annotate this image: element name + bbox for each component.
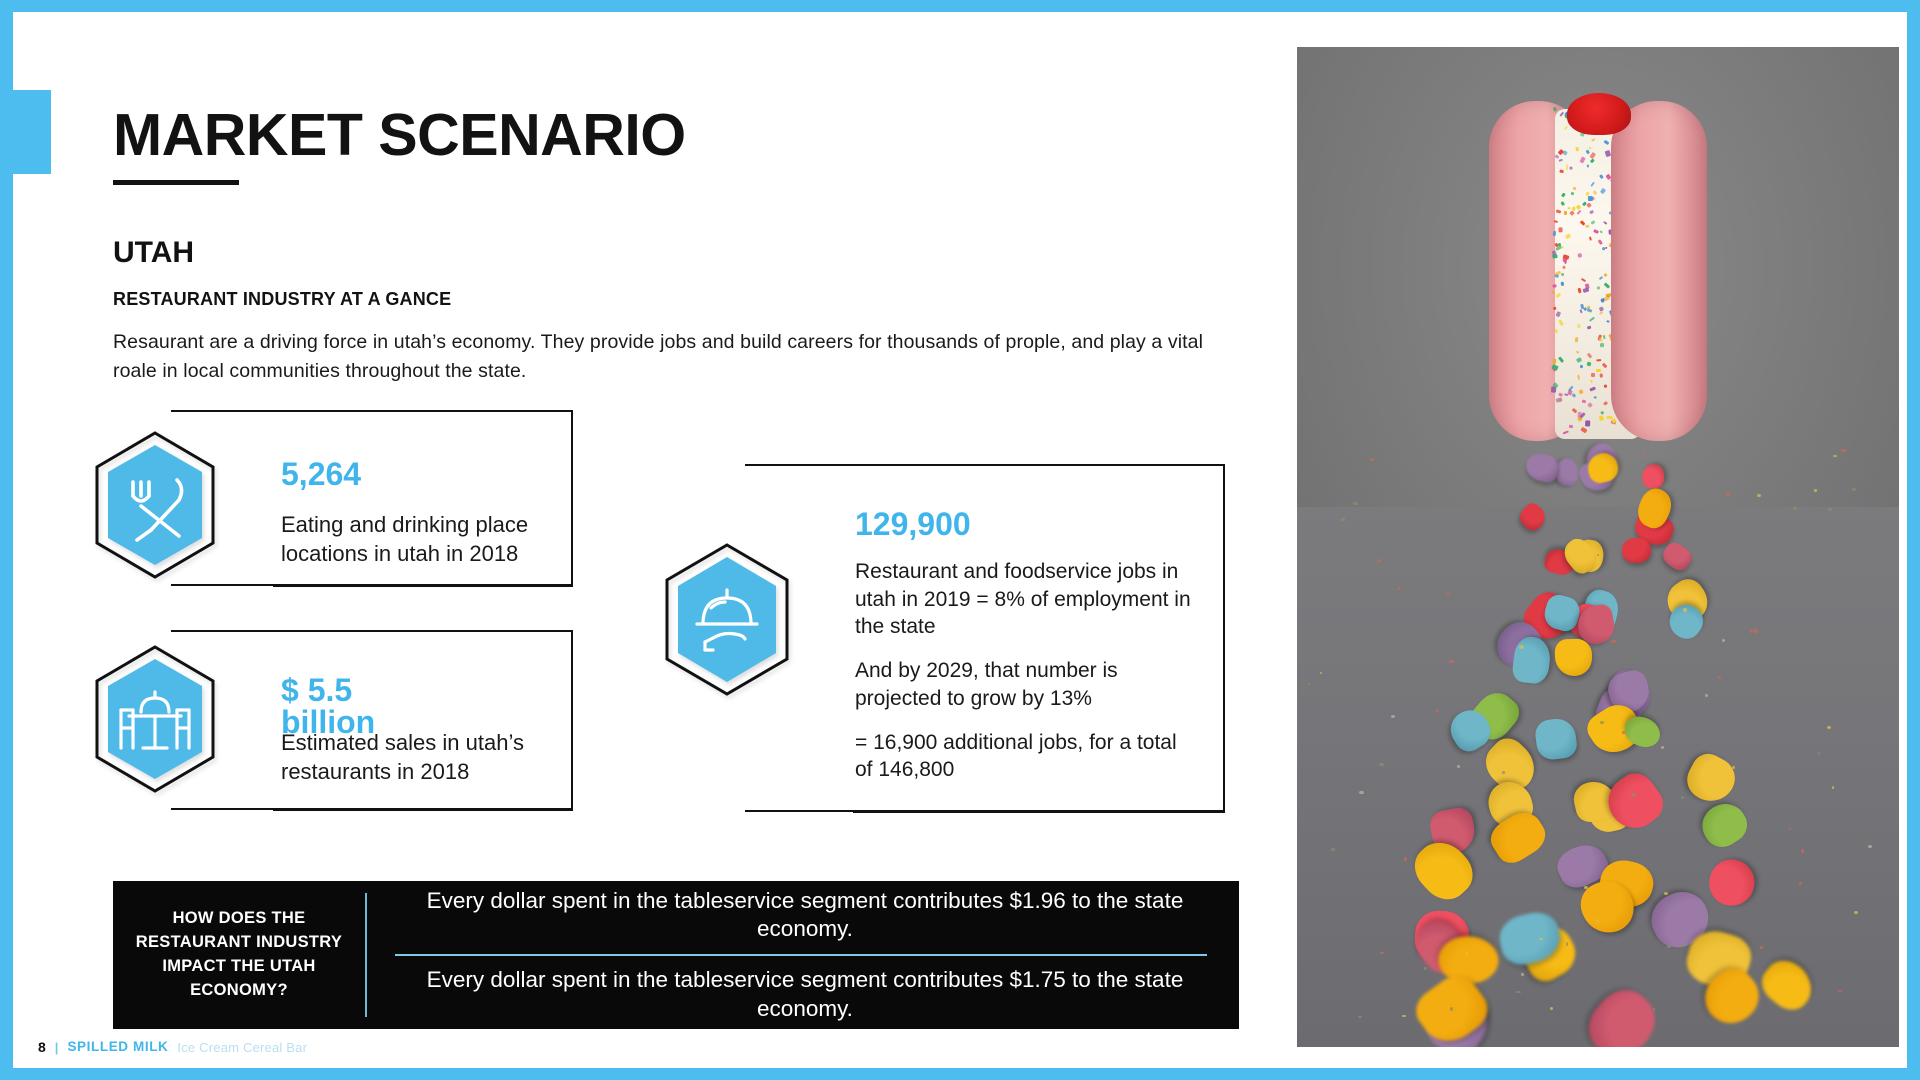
sprinkle — [1590, 152, 1597, 159]
sprinkle — [1591, 220, 1596, 225]
crumb — [1566, 942, 1568, 946]
sprinkle — [1555, 209, 1561, 214]
sprinkle — [1596, 286, 1600, 289]
state-heading: UTAH — [113, 238, 194, 268]
sprinkle — [1603, 273, 1607, 277]
crumb — [1832, 786, 1834, 788]
sprinkle — [1593, 229, 1598, 233]
macaron-shell-right — [1611, 101, 1707, 441]
card-bottom-rule — [273, 584, 573, 587]
crumb — [1760, 946, 1763, 950]
sprinkle — [1581, 399, 1586, 402]
cereal-piece — [1511, 636, 1553, 686]
crumb — [1664, 892, 1668, 895]
sprinkle — [1553, 107, 1556, 112]
crumb — [1801, 849, 1803, 853]
stat-line: = 16,900 additional jobs, for a total of… — [855, 729, 1195, 784]
cereal-piece — [1706, 857, 1757, 909]
sprinkle — [1555, 311, 1561, 317]
sprinkle — [1581, 277, 1586, 281]
crumb — [1597, 554, 1599, 556]
sprinkle — [1571, 408, 1577, 413]
cereal-piece — [1555, 458, 1578, 486]
sprinkle — [1552, 231, 1556, 236]
impact-callout: HOW DOES THE RESTAURANT INDUSTRY IMPACT … — [113, 881, 1239, 1029]
sprinkle — [1599, 175, 1604, 180]
sprinkle — [1564, 394, 1568, 397]
crumb — [1436, 709, 1439, 713]
sprinkle — [1586, 352, 1592, 358]
crumb — [1661, 746, 1665, 749]
crumb — [1750, 629, 1752, 632]
sprinkle — [1590, 379, 1593, 382]
cereal-pile — [1297, 427, 1899, 1047]
crumb — [1868, 845, 1872, 848]
sprinkle — [1556, 293, 1562, 298]
left-accent-block — [13, 90, 51, 174]
page-title: MARKET SCENARIO — [113, 106, 686, 165]
dining-table-icon — [91, 644, 219, 794]
sprinkle — [1564, 126, 1568, 130]
sprinkle — [1585, 225, 1589, 228]
card-bottom-rule — [853, 810, 1225, 813]
stat-description: Eating and drinking place locations in u… — [281, 510, 551, 569]
cereal-piece — [1680, 749, 1741, 810]
sprinkle — [1564, 211, 1567, 215]
sprinkle — [1561, 272, 1565, 276]
sprinkle — [1600, 188, 1607, 195]
sprinkle — [1578, 324, 1581, 328]
sprinkle — [1563, 150, 1568, 156]
slide-canvas: MARKET SCENARIO UTAH RESTAURANT INDUSTRY… — [13, 12, 1907, 1068]
sprinkle — [1604, 384, 1608, 388]
crumb — [1852, 488, 1855, 491]
crumb — [1404, 857, 1407, 860]
macaron-sandwich — [1483, 75, 1713, 467]
sprinkle — [1554, 154, 1559, 159]
sprinkle — [1558, 319, 1564, 325]
crumb — [1595, 457, 1599, 460]
sprinkle — [1570, 210, 1576, 216]
sprinkle — [1600, 411, 1603, 414]
crumb — [1642, 452, 1645, 455]
crumb — [1359, 791, 1364, 795]
crumb — [1397, 587, 1400, 590]
sprinkle — [1589, 316, 1595, 321]
card-bottom-rule — [273, 808, 573, 811]
sprinkle — [1593, 396, 1596, 399]
crumb — [1584, 886, 1588, 889]
cereal-piece — [1622, 538, 1651, 563]
crumb — [1854, 911, 1858, 914]
sprinkle — [1559, 158, 1563, 161]
cereal-piece — [1695, 796, 1754, 854]
sprinkle — [1568, 207, 1571, 209]
footer: 8 | SPILLED MILK Ice Cream Cereal Bar — [38, 1040, 307, 1054]
served-cloche-icon — [661, 542, 793, 697]
macaron-ice-cream-sandwich-photo — [1297, 47, 1899, 1047]
sprinkle — [1564, 260, 1567, 265]
sprinkle — [1599, 230, 1603, 234]
crumb — [1814, 489, 1817, 492]
crumb — [1722, 639, 1725, 642]
crumb — [1793, 507, 1798, 510]
sprinkle — [1599, 373, 1602, 377]
cereal-piece — [1642, 463, 1666, 489]
sprinkle — [1604, 282, 1610, 288]
crumb — [1680, 944, 1683, 947]
sprinkle — [1577, 253, 1582, 258]
sprinkle — [1589, 210, 1594, 215]
sprinkle — [1587, 402, 1593, 408]
sprinkle — [1577, 288, 1581, 294]
crumb — [1833, 455, 1837, 457]
sprinkle — [1565, 234, 1571, 240]
sprinkle — [1585, 420, 1590, 426]
sprinkle — [1551, 290, 1556, 294]
sprinkle — [1575, 337, 1579, 342]
sprinkle — [1576, 357, 1582, 363]
crumb — [1667, 945, 1671, 948]
footer-separator: | — [55, 1041, 59, 1054]
crumb — [1683, 608, 1686, 612]
sprinkle — [1571, 393, 1576, 398]
cereal-piece — [1659, 539, 1695, 574]
sprinkle — [1555, 328, 1558, 333]
impact-statements: Every dollar spent in the tableservice s… — [367, 881, 1239, 1029]
sprinkle — [1596, 369, 1601, 372]
sprinkle — [1604, 150, 1610, 157]
sprinkle — [1601, 363, 1607, 369]
sprinkle — [1563, 265, 1567, 269]
cereal-piece — [1405, 831, 1482, 909]
sprinkle — [1586, 164, 1589, 168]
cereal-piece — [1516, 500, 1549, 533]
stat-description-block: Restaurant and foodservice jobs in utah … — [855, 558, 1195, 784]
sprinkle — [1585, 149, 1590, 154]
footer-tagline: Ice Cream Cereal Bar — [177, 1041, 307, 1054]
stat-line: And by 2029, that number is projected to… — [855, 657, 1195, 712]
sprinkle — [1599, 276, 1603, 280]
crumb — [1358, 1016, 1362, 1018]
sprinkle — [1580, 364, 1583, 367]
sprinkle — [1605, 247, 1608, 250]
sprinkle — [1576, 146, 1579, 151]
sprinkle — [1591, 373, 1596, 377]
sprinkle — [1592, 190, 1597, 195]
crumb — [1370, 458, 1375, 461]
section-subheading: RESTAURANT INDUSTRY AT A GANCE — [113, 290, 451, 308]
cereal-piece — [1554, 639, 1592, 677]
stat-number: 5,264 — [281, 458, 361, 490]
crumb — [1379, 763, 1384, 766]
sprinkle — [1570, 167, 1573, 170]
sprinkle — [1563, 254, 1570, 260]
crumb — [1402, 1015, 1405, 1017]
sprinkle — [1552, 369, 1555, 372]
sprinkle — [1553, 285, 1557, 288]
sprinkle — [1598, 415, 1604, 421]
crumb — [1353, 502, 1357, 505]
title-underline — [113, 180, 239, 185]
crumb — [1596, 919, 1599, 923]
sprinkle — [1559, 170, 1564, 174]
sprinkle — [1587, 308, 1593, 313]
sprinkle — [1588, 196, 1593, 201]
intro-paragraph: Resaurant are a driving force in utah’s … — [113, 328, 1208, 386]
sprinkle — [1561, 193, 1566, 198]
stat-number: 129,900 — [855, 508, 971, 540]
sprinkle — [1561, 281, 1564, 285]
sprinkle — [1600, 343, 1605, 347]
sprinkle — [1577, 375, 1580, 380]
sprinkle — [1597, 359, 1602, 361]
sprinkle — [1588, 237, 1591, 241]
sprinkle — [1561, 201, 1565, 205]
sprinkle — [1558, 356, 1564, 363]
sprinkle — [1579, 309, 1582, 314]
sprinkle — [1590, 386, 1596, 391]
crumb — [1681, 796, 1685, 799]
sprinkle — [1598, 240, 1603, 245]
sprinkle — [1602, 334, 1605, 339]
cereal-piece — [1754, 952, 1821, 1018]
sprinkle — [1588, 147, 1591, 150]
sprinkle — [1566, 164, 1569, 170]
sprinkle — [1575, 204, 1581, 210]
cereal-piece — [1524, 450, 1561, 484]
crumb — [1380, 952, 1384, 954]
sprinkle — [1573, 186, 1576, 190]
impact-rule — [395, 954, 1207, 957]
crumb — [1341, 518, 1345, 521]
impact-statement: Every dollar spent in the tableservice s… — [389, 887, 1221, 944]
sprinkle — [1554, 221, 1558, 224]
crumb — [1457, 765, 1460, 768]
crumb — [1827, 726, 1832, 729]
sprinkle — [1577, 210, 1582, 215]
slide-frame: MARKET SCENARIO UTAH RESTAURANT INDUSTRY… — [0, 0, 1920, 1080]
crumb — [1631, 793, 1636, 797]
red-cereal-topping — [1567, 93, 1631, 135]
stat-line: Restaurant and foodservice jobs in utah … — [855, 558, 1195, 641]
footer-brand: SPILLED MILK — [67, 1040, 168, 1054]
sprinkle — [1554, 359, 1557, 365]
impact-statement: Every dollar spent in the tableservice s… — [389, 966, 1221, 1023]
crumb — [1718, 676, 1721, 678]
crumb — [1799, 882, 1801, 884]
stat-description: Estimated sales in utah’s restaurants in… — [281, 728, 551, 787]
sprinkle — [1591, 138, 1596, 142]
sprinkle — [1603, 221, 1608, 225]
impact-question: HOW DOES THE RESTAURANT INDUSTRY IMPACT … — [113, 881, 365, 1029]
sprinkle — [1580, 157, 1586, 164]
cereal-piece — [1534, 716, 1579, 760]
crumb — [1754, 629, 1758, 633]
sprinkle — [1598, 311, 1603, 315]
sprinkle — [1570, 191, 1574, 195]
crumb — [1653, 1008, 1655, 1011]
crumb — [1449, 660, 1453, 663]
footer-page-number: 8 — [38, 1040, 46, 1054]
sprinkle — [1606, 320, 1609, 323]
sprinkle — [1578, 389, 1583, 394]
sprinkle — [1591, 159, 1596, 164]
crumb — [1516, 991, 1520, 993]
cereal-piece — [1577, 979, 1667, 1047]
sprinkle — [1586, 202, 1592, 208]
sprinkle — [1587, 361, 1592, 366]
sprinkle — [1559, 228, 1563, 233]
fork-knife-icon — [91, 430, 219, 580]
sprinkle — [1575, 350, 1579, 354]
sprinkle — [1590, 181, 1595, 186]
sprinkle — [1582, 288, 1589, 294]
sprinkle — [1586, 326, 1591, 330]
sprinkle — [1604, 401, 1608, 405]
crumb — [1424, 967, 1427, 970]
sprinkle — [1552, 307, 1556, 311]
crumb — [1331, 848, 1335, 850]
sprinkle — [1603, 140, 1609, 145]
crumb — [1611, 640, 1615, 643]
